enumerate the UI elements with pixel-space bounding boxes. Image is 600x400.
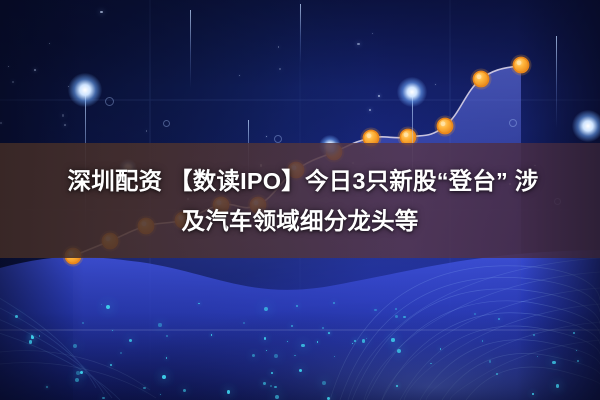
particle	[278, 46, 280, 48]
particle	[372, 33, 373, 34]
ring-particle-0	[105, 97, 114, 106]
particle	[80, 371, 83, 374]
particle	[271, 372, 273, 374]
particle	[322, 381, 326, 385]
particle	[12, 81, 14, 83]
particle	[31, 335, 33, 337]
particle	[101, 304, 102, 305]
particle	[31, 336, 34, 339]
particle	[102, 397, 104, 399]
particle	[49, 43, 50, 44]
particle	[243, 322, 245, 324]
particle	[299, 369, 303, 373]
particle	[29, 340, 32, 343]
particle	[252, 354, 255, 357]
particle	[366, 338, 367, 339]
particle	[374, 309, 376, 311]
particle	[576, 350, 577, 351]
particle	[435, 84, 436, 85]
particle	[287, 341, 288, 342]
particle	[8, 66, 9, 67]
particle	[143, 387, 146, 390]
particle	[496, 373, 499, 376]
particle	[352, 343, 353, 344]
particle	[552, 361, 556, 365]
title-line-2: 及汽车领域细分龙头等	[182, 201, 419, 241]
ring-particle-2	[274, 135, 282, 143]
particle	[263, 382, 265, 384]
particle	[264, 307, 268, 311]
particle	[396, 385, 398, 387]
particle	[482, 340, 483, 341]
particle	[577, 360, 579, 362]
particle	[395, 308, 398, 311]
particle	[239, 75, 240, 76]
particle	[537, 356, 538, 357]
particle	[110, 364, 112, 366]
particle	[34, 69, 36, 71]
particle	[354, 340, 356, 342]
particle	[211, 334, 212, 335]
particle	[489, 360, 492, 363]
particle	[322, 327, 324, 329]
particle	[158, 323, 161, 326]
particle	[227, 390, 230, 393]
particle	[474, 313, 476, 315]
glow-particle-2	[572, 110, 600, 142]
particle	[162, 375, 166, 379]
particle	[270, 385, 272, 387]
particle	[100, 11, 103, 14]
particle	[403, 316, 406, 319]
particle	[369, 109, 371, 111]
particle	[279, 68, 281, 70]
light-beam-3	[300, 4, 301, 64]
ring-particle-1	[163, 120, 170, 127]
particle	[106, 305, 110, 309]
particle	[166, 335, 168, 337]
particle	[274, 354, 278, 358]
banner-image: 深圳配资 【数读IPO】今日3只新股“登台” 涉 及汽车领域细分龙头等	[0, 0, 600, 400]
particle	[291, 325, 293, 327]
glow-particle-0	[68, 73, 102, 107]
particle	[266, 350, 267, 351]
particle	[15, 315, 18, 318]
particle	[301, 344, 305, 348]
particle	[166, 357, 167, 358]
particle	[266, 136, 267, 137]
particle	[294, 355, 295, 356]
title-line-1: 深圳配资 【数读IPO】今日3只新股“登台” 涉	[62, 161, 539, 201]
particle	[46, 386, 47, 387]
particle	[75, 378, 79, 382]
particle	[82, 322, 84, 324]
particle	[317, 341, 318, 342]
particle	[440, 348, 442, 350]
particle	[183, 389, 186, 392]
particle	[146, 130, 148, 132]
particle	[62, 114, 64, 116]
particle	[68, 86, 69, 87]
particle	[0, 122, 2, 124]
particle	[76, 371, 80, 375]
particle	[129, 339, 132, 342]
particle	[362, 339, 365, 342]
particle	[120, 352, 122, 354]
particle	[275, 395, 279, 399]
particle	[274, 386, 277, 389]
particle	[357, 43, 359, 45]
light-beam-4	[556, 36, 557, 128]
particle	[378, 95, 379, 96]
particle	[328, 332, 330, 334]
particle	[391, 338, 394, 341]
particle	[397, 349, 401, 353]
light-beam-2	[190, 10, 191, 88]
particle	[395, 315, 398, 318]
particle	[533, 334, 535, 336]
particle	[498, 318, 500, 320]
ring-particle-3	[509, 119, 517, 127]
particle	[430, 363, 432, 365]
particle	[198, 303, 199, 304]
particle	[334, 356, 335, 357]
particle	[160, 394, 161, 395]
particle	[112, 330, 113, 331]
particle	[556, 384, 559, 387]
particle	[264, 337, 267, 340]
particle	[296, 305, 298, 307]
particle	[73, 344, 77, 348]
particle	[39, 335, 41, 337]
particle	[64, 124, 66, 126]
particle	[573, 332, 575, 334]
banner-title: 深圳配资 【数读IPO】今日3只新股“登台” 涉 及汽车领域细分龙头等	[0, 143, 600, 258]
particle	[532, 393, 534, 395]
glow-particle-1	[397, 77, 427, 107]
particle	[333, 302, 335, 304]
